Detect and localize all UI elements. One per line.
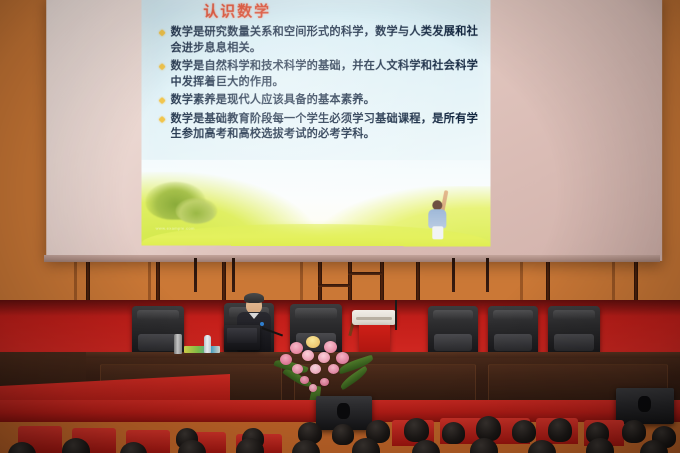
flower-bloom (280, 354, 292, 365)
bullet-text: 数学素养是现代人应该具备的基本素养。 (171, 92, 376, 108)
flower-bloom (309, 384, 317, 392)
audience-head (442, 422, 465, 444)
screen-leg (232, 258, 235, 292)
screen-leg (486, 258, 489, 292)
wall-mullion (380, 262, 384, 304)
child-figure (424, 190, 454, 240)
flower-bloom (336, 352, 349, 364)
screen-leg (452, 258, 455, 292)
bullet-text: 数学是基础教育阶段每一个学生必须学习基础课程，是所有学生参加高考和高校选拔考试的… (171, 110, 482, 141)
stage-chair (548, 306, 600, 354)
bullet-diamond-icon (159, 115, 166, 122)
list-item: 数学是自然科学和技术科学的基础，并在人文科学和社会科学中发挥着巨大的作用。 (160, 58, 482, 89)
flower-bloom (302, 350, 314, 361)
child-legs (432, 226, 443, 239)
wall-mullion (348, 272, 382, 275)
audience-rows (0, 398, 680, 453)
flower-bloom (290, 342, 303, 354)
wall-mullion (222, 262, 226, 304)
tree-icon (175, 198, 217, 224)
flower-bloom (300, 376, 309, 384)
slide-illustration: www.example.com (142, 160, 491, 247)
audience-head (548, 418, 572, 442)
wall-mullion (318, 284, 350, 287)
list-item: 数学素养是现代人应该具备的基本素养。 (160, 92, 482, 108)
bullet-text: 数学是研究数量关系和空间形式的科学，数学与人类发展和社会进步息息相关。 (171, 24, 482, 56)
thermos-flask (174, 334, 182, 354)
water-bottle (204, 335, 211, 353)
flower-bloom (324, 341, 337, 353)
podium-top-edge (356, 317, 392, 320)
audience-head (412, 440, 440, 453)
audience-head (622, 420, 646, 443)
laptop (224, 325, 260, 350)
screen-bottom-rail (44, 255, 660, 262)
slide-bullet-list: 数学是研究数量关系和空间形式的科学，数学与人类发展和社会进步息息相关。 数学是自… (160, 24, 482, 145)
presenter-hair (244, 293, 264, 303)
audience-head (512, 420, 536, 443)
microphone-stand (395, 300, 397, 330)
flower-bloom (306, 336, 320, 348)
audience-head (332, 424, 354, 445)
chair-highlight (493, 310, 533, 321)
bullet-diamond-icon (159, 63, 166, 70)
bullet-text: 数学是自然科学和技术科学的基础，并在人文科学和社会科学中发挥着巨大的作用。 (171, 58, 482, 89)
list-item: 数学是研究数量关系和空间形式的科学，数学与人类发展和社会进步息息相关。 (160, 24, 482, 56)
chair-highlight (433, 310, 473, 321)
laptop-screen (227, 328, 257, 343)
audience-head (476, 416, 501, 441)
bullet-diamond-icon (159, 29, 166, 36)
audience-head (404, 418, 429, 442)
chair-highlight (137, 310, 179, 321)
stage-chair (428, 306, 478, 354)
projected-slide: 认识数学 数学是研究数量关系和空间形式的科学，数学与人类发展和社会进步息息相关。… (142, 0, 491, 247)
screen-leg (194, 258, 197, 292)
slide-watermark: www.example.com (156, 226, 195, 231)
slide-title: 认识数学 (203, 0, 271, 21)
flower-bloom (318, 352, 330, 363)
flower-bloom (292, 364, 303, 374)
bullet-diamond-icon (159, 97, 166, 104)
flower-bloom (320, 378, 329, 386)
auditorium-scene: 认识数学 数学是研究数量关系和空间形式的科学，数学与人类发展和社会进步息息相关。… (0, 0, 680, 453)
flower-bloom (328, 364, 339, 374)
chair-highlight (295, 308, 337, 319)
flower-bloom (310, 364, 321, 374)
desk-documents (184, 346, 220, 353)
presenter-badge (260, 322, 264, 326)
chair-highlight (553, 310, 595, 321)
stage-chair (488, 306, 538, 354)
list-item: 数学是基础教育阶段每一个学生必须学习基础课程，是所有学生参加高考和高校选拔考试的… (160, 110, 482, 141)
